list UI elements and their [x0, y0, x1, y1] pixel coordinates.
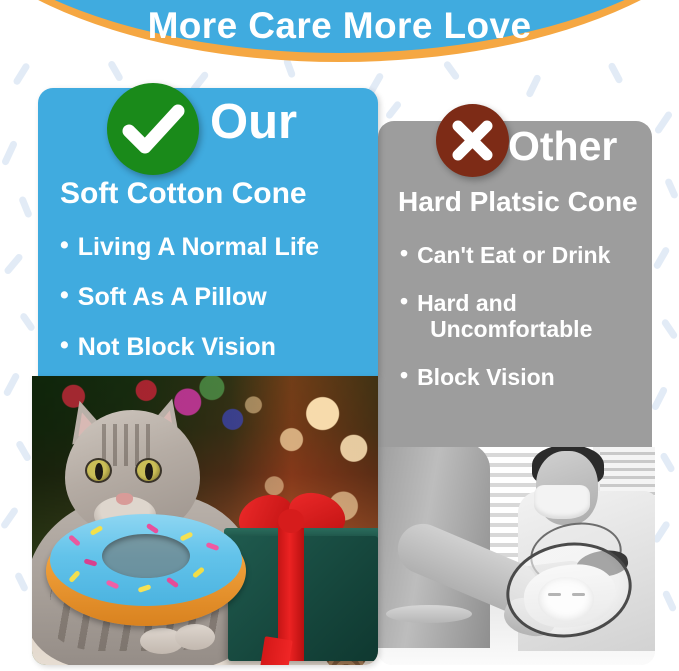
list-item: • Can't Eat or Drink	[400, 242, 610, 269]
soft-donut-cone	[46, 516, 246, 626]
list-item: • Soft As A Pillow	[60, 283, 319, 312]
cat-paw-right	[175, 624, 215, 650]
ribbon-knot	[278, 509, 304, 533]
page-title: More Care More Love	[0, 5, 679, 47]
cat-eye-left	[85, 458, 112, 483]
bullet-icon: •	[400, 242, 408, 265]
bullet-icon: •	[60, 233, 69, 258]
list-item: • Not Block Vision	[60, 333, 319, 362]
other-feature-list: • Can't Eat or Drink • Hard and Uncomfor…	[400, 242, 610, 412]
bullet-icon: •	[400, 290, 408, 313]
bullet-icon: •	[60, 283, 69, 308]
list-item: • Block Vision	[400, 364, 610, 391]
cat-nose	[116, 493, 133, 505]
face-mask	[534, 485, 590, 519]
list-item: • Hard and Uncomfortable	[400, 290, 610, 343]
our-heading: Our	[210, 98, 297, 147]
list-item: • Living A Normal Life	[60, 233, 319, 262]
cat-wearing-soft-donut-cone-photo	[32, 376, 378, 665]
bullet-icon: •	[400, 364, 408, 387]
infographic-canvas: More Care More Love	[0, 0, 679, 671]
our-subheading: Soft Cotton Cone	[60, 177, 307, 211]
other-subheading: Hard Platsic Cone	[398, 186, 638, 218]
check-circle-icon	[107, 83, 199, 175]
other-heading: Other	[508, 126, 617, 167]
x-circle-icon	[436, 104, 509, 177]
our-feature-list: • Living A Normal Life • Soft As A Pillo…	[60, 233, 319, 383]
cat-eye-right	[135, 458, 162, 483]
vet-clinic-hard-cone-photo	[378, 447, 655, 665]
bullet-icon: •	[60, 333, 69, 358]
instrument-tray	[386, 605, 472, 623]
